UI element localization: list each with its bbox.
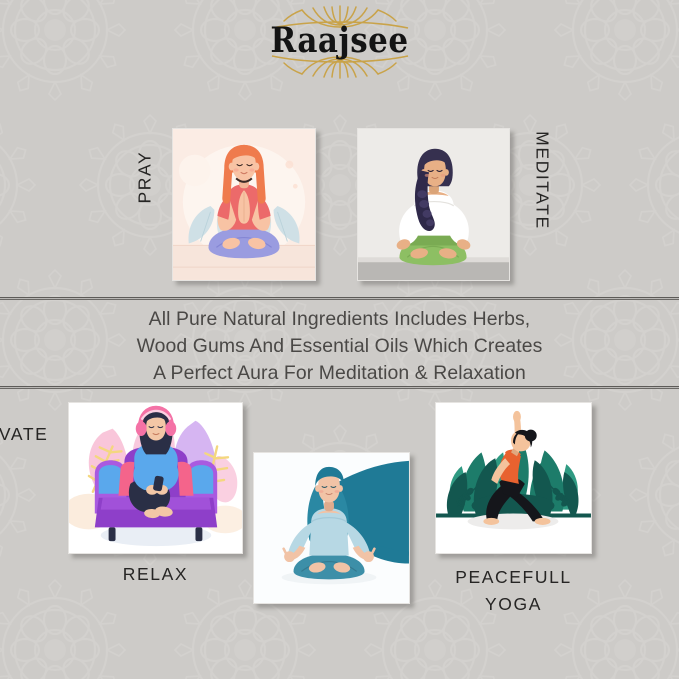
card-activate[interactable] (253, 452, 410, 604)
illustration-meditate (358, 129, 509, 280)
illustration-activate (254, 453, 409, 603)
label-relax: RELAX (68, 564, 243, 585)
illustration-pray (173, 129, 315, 280)
label-meditate: MEDITATE (532, 126, 553, 236)
card-pray[interactable] (172, 128, 316, 281)
label-peacefull-yoga: PEACEFULL YOGA (435, 564, 592, 618)
divider-top (0, 297, 679, 300)
card-meditate[interactable] (357, 128, 510, 281)
brand-logo: Raajsee (0, 4, 679, 80)
divider-bottom (0, 386, 679, 389)
brand-wordmark: Raajsee (0, 24, 679, 59)
tagline: All Pure Natural Ingredients Includes He… (0, 306, 679, 387)
label-activate-text: ACTIVATE (0, 424, 48, 444)
tagline-line-1: All Pure Natural Ingredients Includes He… (0, 306, 679, 333)
tagline-line-2: Wood Gums And Essential Oils Which Creat… (0, 333, 679, 360)
label-pray: PRAY (135, 178, 156, 204)
label-yoga-line-2: YOGA (435, 591, 592, 618)
label-yoga-line-1: PEACEFULL (435, 564, 592, 591)
tagline-line-3: A Perfect Aura For Meditation & Relaxati… (0, 360, 679, 387)
label-activate: ACTIVATE (0, 424, 679, 445)
